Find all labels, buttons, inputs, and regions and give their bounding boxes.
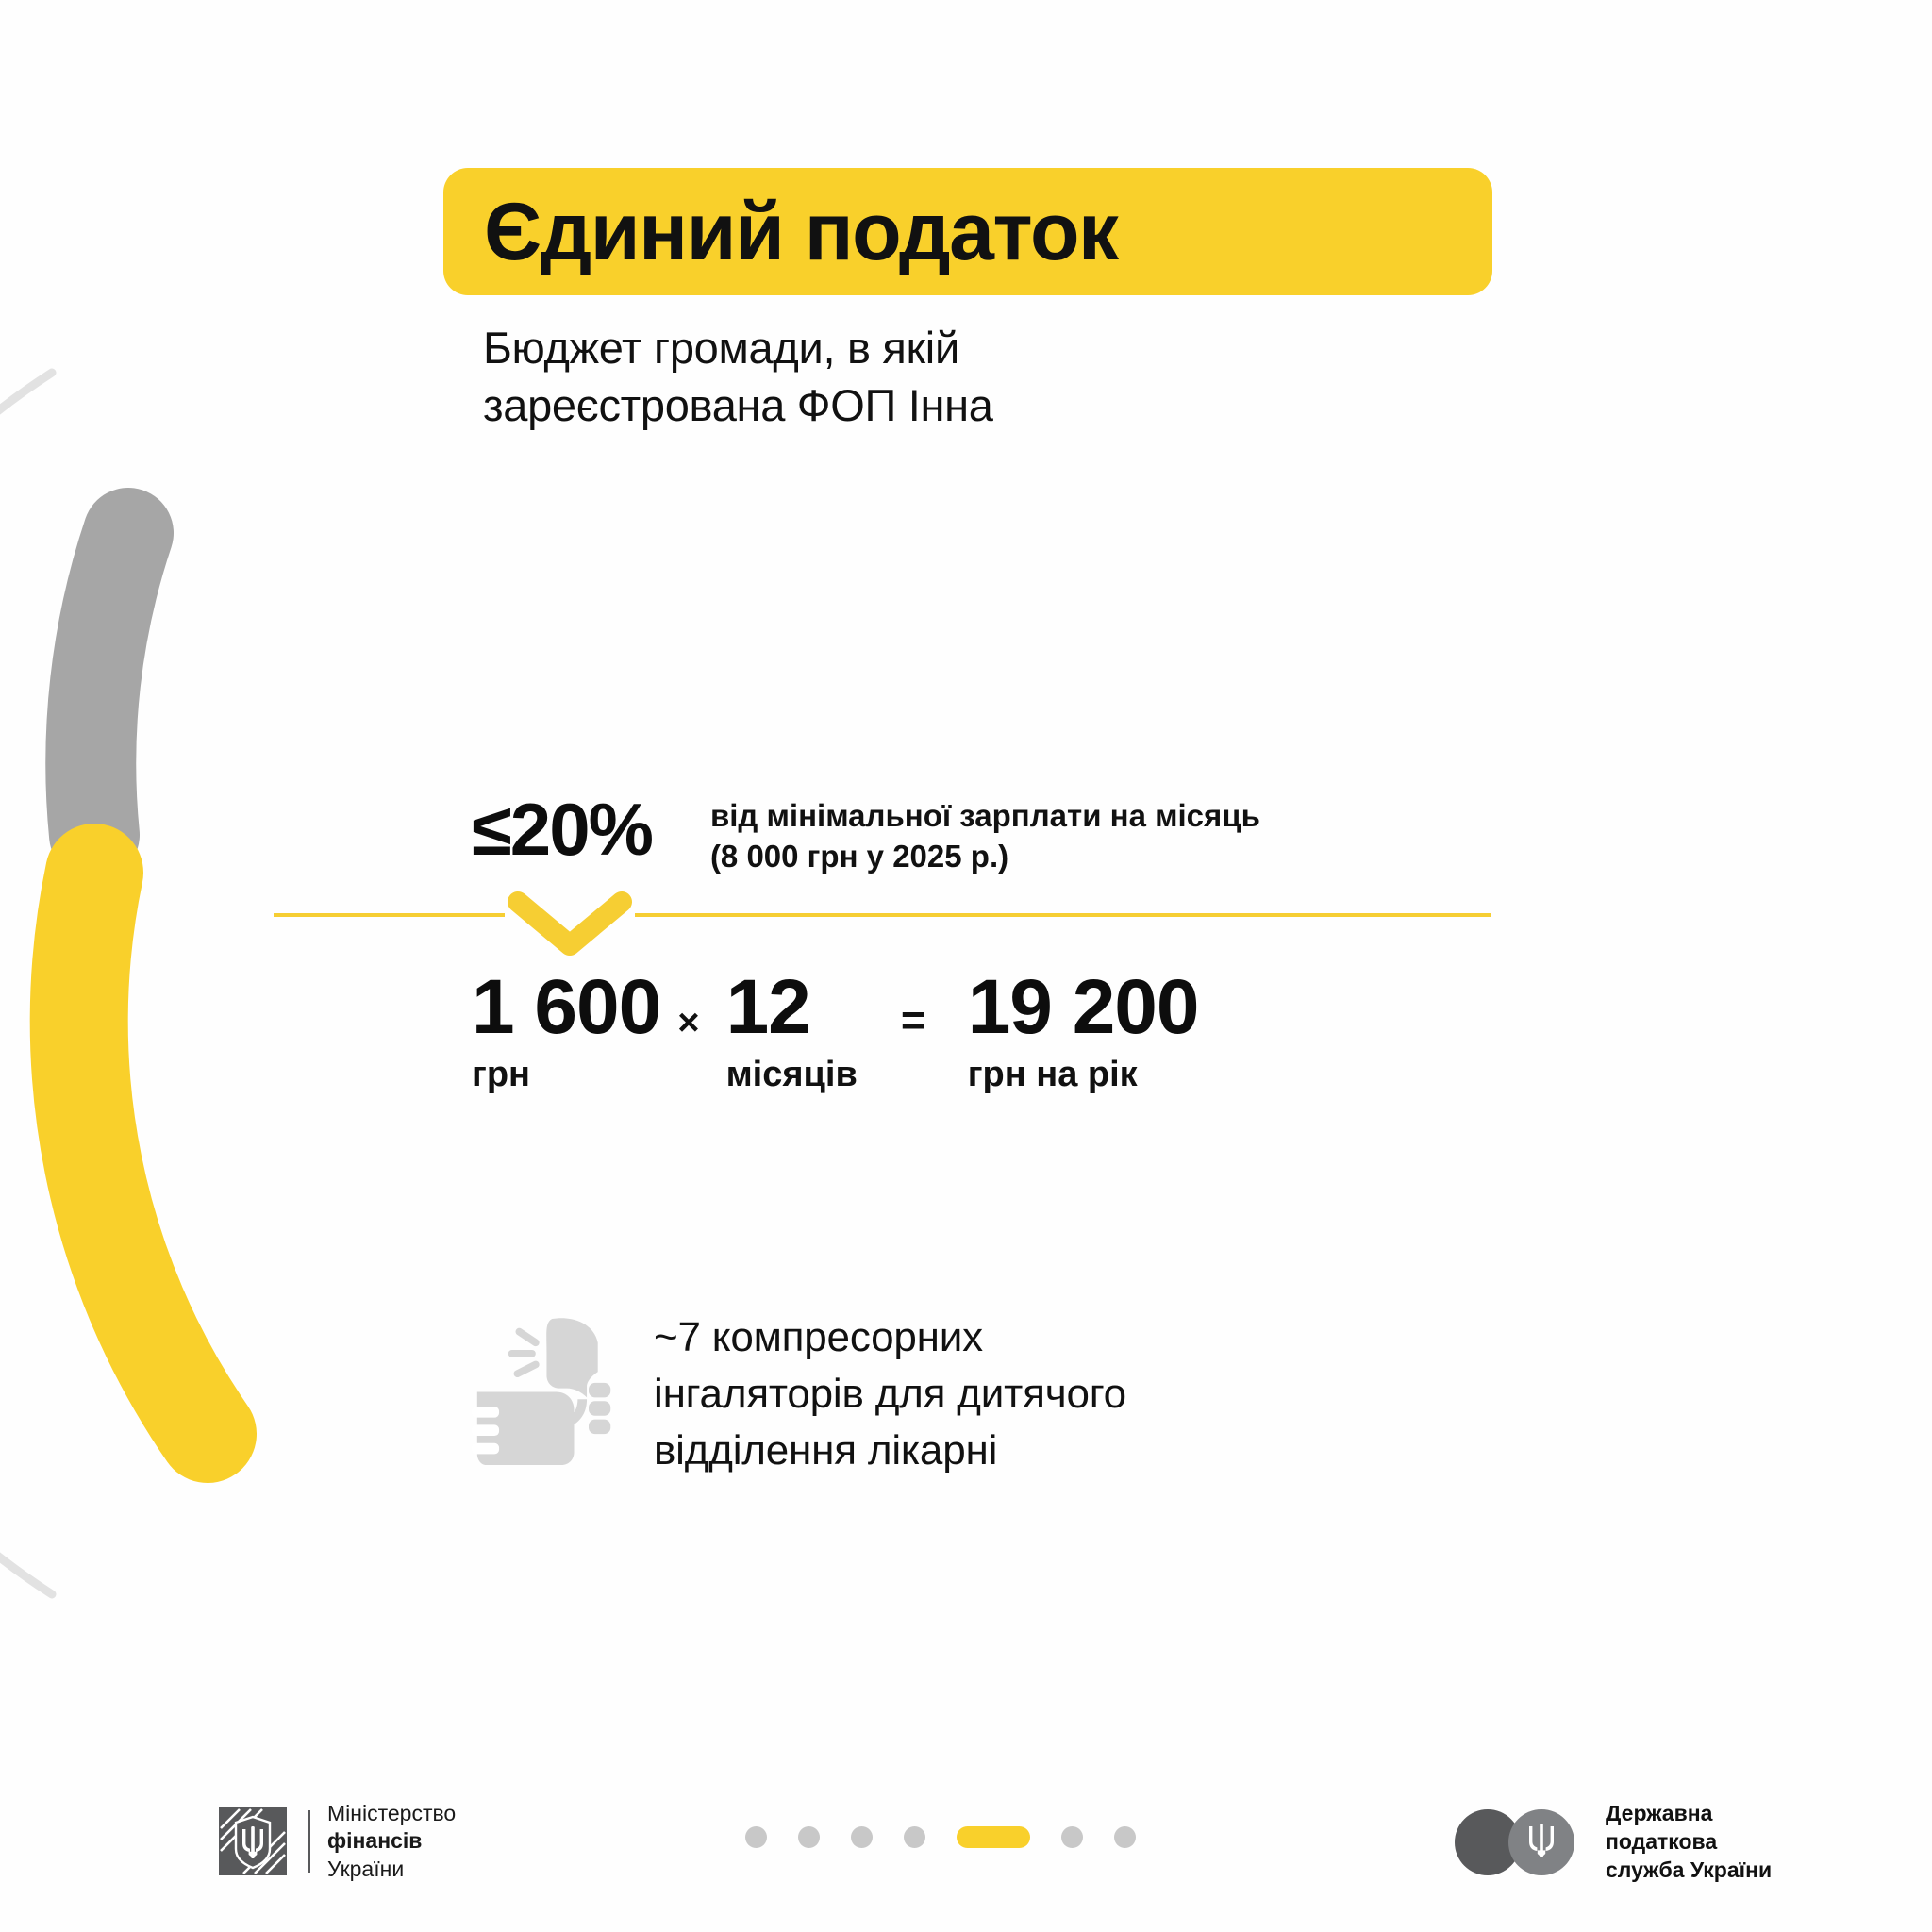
rate-row: ≤20% від мінімальної зарплати на місяць … bbox=[472, 792, 1260, 877]
calculation-row: 1 600 грн × 12 місяців = 19 200 грн на р… bbox=[472, 970, 1199, 1092]
pagination-dot[interactable] bbox=[851, 1826, 873, 1848]
logo-divider bbox=[308, 1810, 310, 1873]
minfin-line-1: Міністерство bbox=[327, 1800, 456, 1827]
tax-service-logo-text: Державна податкова служба України bbox=[1606, 1800, 1772, 1885]
calc-months-group: 12 місяців bbox=[726, 970, 858, 1092]
rate-value: ≤20% bbox=[472, 792, 652, 866]
pagination-dot-active[interactable] bbox=[957, 1826, 1030, 1848]
minfin-line-3: України bbox=[327, 1856, 456, 1883]
calc-months: 12 bbox=[726, 970, 858, 1045]
equals-operator: = bbox=[901, 998, 926, 1041]
calc-amount-group: 1 600 грн bbox=[472, 970, 660, 1092]
pagination-dot[interactable] bbox=[1114, 1826, 1136, 1848]
tax-service-logo: Державна податкова служба України bbox=[1455, 1800, 1772, 1885]
arc-track bbox=[0, 373, 52, 1594]
calc-result-unit: грн на рік bbox=[968, 1057, 1199, 1092]
ukraine-trident-emblem-icon bbox=[219, 1807, 287, 1875]
minfin-logo: Міністерство фінансів України bbox=[219, 1800, 456, 1883]
ukraine-trident-circle-icon bbox=[1508, 1809, 1574, 1875]
calc-amount: 1 600 bbox=[472, 970, 660, 1045]
pagination-dot[interactable] bbox=[745, 1826, 767, 1848]
arc-segment-gray bbox=[91, 533, 128, 835]
section-divider bbox=[274, 913, 1491, 917]
calc-result: 19 200 bbox=[968, 970, 1199, 1045]
pagination-dot[interactable] bbox=[798, 1826, 820, 1848]
inhaler-icon bbox=[472, 1315, 618, 1471]
pagination-dot[interactable] bbox=[904, 1826, 925, 1848]
slide-canvas: Єдиний податок Бюджет громади, в якій за… bbox=[0, 0, 1932, 1932]
rate-note-line2: (8 000 грн у 2025 р.) bbox=[710, 837, 1260, 877]
chevron-down-icon bbox=[505, 891, 635, 960]
pagination-dot[interactable] bbox=[1061, 1826, 1083, 1848]
rate-note-line1: від мінімальної зарплати на місяць bbox=[710, 796, 1260, 837]
title-banner: Єдиний податок bbox=[443, 168, 1492, 295]
calc-amount-unit: грн bbox=[472, 1057, 660, 1092]
page-subtitle: Бюджет громади, в якій зареєстрована ФОП… bbox=[483, 319, 1332, 434]
divider-line-left bbox=[274, 913, 505, 917]
pagination-dots[interactable] bbox=[745, 1826, 1136, 1848]
calc-months-unit: місяців bbox=[726, 1057, 858, 1092]
minfin-logo-text: Міністерство фінансів України bbox=[327, 1800, 456, 1883]
equivalent-text: ~7 компресорних інгаляторів для дитячого… bbox=[654, 1309, 1126, 1478]
rate-note: від мінімальної зарплати на місяць (8 00… bbox=[710, 796, 1260, 877]
tax-service-marks bbox=[1455, 1806, 1592, 1879]
divider-line-right bbox=[635, 913, 1491, 917]
multiply-operator: × bbox=[677, 1004, 699, 1041]
page-title: Єдиний податок bbox=[443, 192, 1118, 273]
arc-segment-yellow bbox=[79, 873, 208, 1434]
calc-result-group: 19 200 грн на рік bbox=[968, 970, 1199, 1092]
equivalent-block: ~7 компресорних інгаляторів для дитячого… bbox=[472, 1309, 1126, 1478]
minfin-line-2: фінансів bbox=[327, 1827, 456, 1855]
